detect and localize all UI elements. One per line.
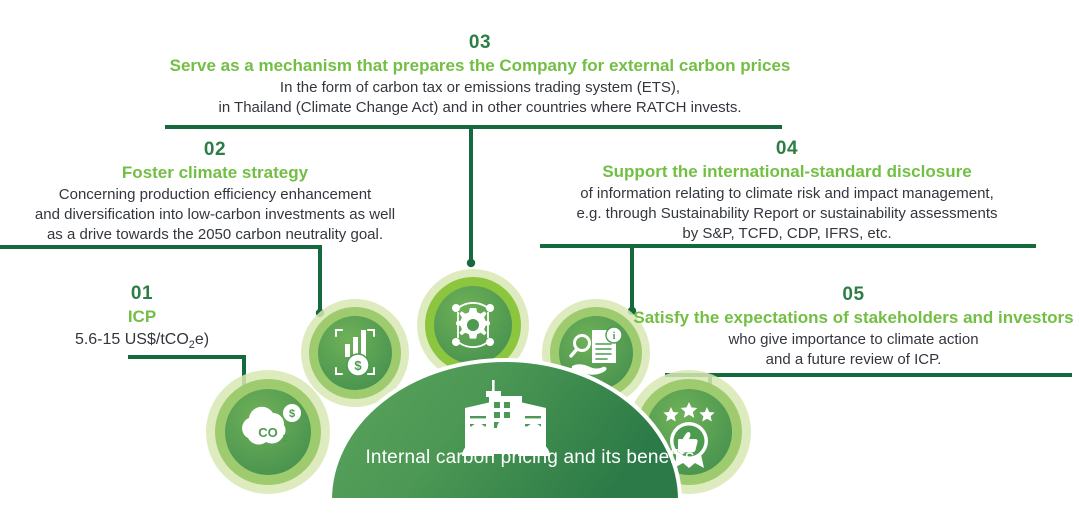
svg-text:CO: CO — [258, 425, 278, 440]
item-04-number: 04 — [540, 138, 1034, 160]
item-05-headline: Satisfy the expectations of stakeholders… — [630, 307, 1077, 329]
item-05-body-line-2: and a future review of ICP. — [630, 350, 1077, 370]
item-02-number: 02 — [0, 139, 430, 161]
item-04-body-line-1: of information relating to climate risk … — [540, 184, 1034, 204]
item-02-text: 02 Foster climate strategy Concerning pr… — [0, 139, 430, 246]
infographic-canvas: CO 2 $ $ — [0, 0, 1080, 507]
item-04-body-line-2: e.g. through Sustainability Report or su… — [540, 204, 1034, 224]
icon-circle-01[interactable]: CO 2 $ — [206, 370, 330, 494]
item-05-body-line-1: who give importance to climate action — [630, 330, 1077, 350]
item-02-body-line-3: as a drive towards the 2050 carbon neutr… — [0, 225, 430, 245]
svg-text:2: 2 — [282, 433, 287, 443]
item-03-body-line-1: In the form of carbon tax or emissions t… — [152, 78, 808, 98]
item-05-number: 05 — [630, 284, 1077, 306]
item-01-body-part-2: e) — [195, 331, 209, 348]
item-04-headline: Support the international-standard discl… — [540, 161, 1034, 183]
item-05-text: 05 Satisfy the expectations of stakehold… — [630, 284, 1077, 370]
item-03-number: 03 — [152, 32, 808, 54]
svg-text:$: $ — [289, 408, 295, 420]
item-04-text: 04 Support the international-standard di… — [540, 138, 1034, 245]
item-02-body-line-2: and diversification into low-carbon inve… — [0, 205, 430, 225]
item-02-headline: Foster climate strategy — [0, 162, 430, 184]
item-03-text: 03 Serve as a mechanism that prepares th… — [152, 32, 808, 118]
svg-text:i: i — [613, 331, 616, 342]
item-02-body-line-1: Concerning production efficiency enhance… — [0, 185, 430, 205]
item-03-body-line-2: in Thailand (Climate Change Act) and in … — [152, 98, 808, 118]
item-01-body-part-1: 5.6-15 US$/tCO — [75, 331, 189, 348]
item-01-body-line-1: 5.6-15 US$/tCO2e) — [8, 329, 276, 353]
svg-text:$: $ — [354, 358, 362, 373]
item-03-headline: Serve as a mechanism that prepares the C… — [152, 55, 808, 77]
item-01-number: 01 — [8, 283, 276, 305]
item-01-headline: ICP — [8, 306, 276, 328]
item-04-body-line-3: by S&P, TCFD, CDP, IFRS, etc. — [540, 224, 1034, 244]
item-01-text: 01 ICP 5.6-15 US$/tCO2e) — [8, 283, 276, 353]
